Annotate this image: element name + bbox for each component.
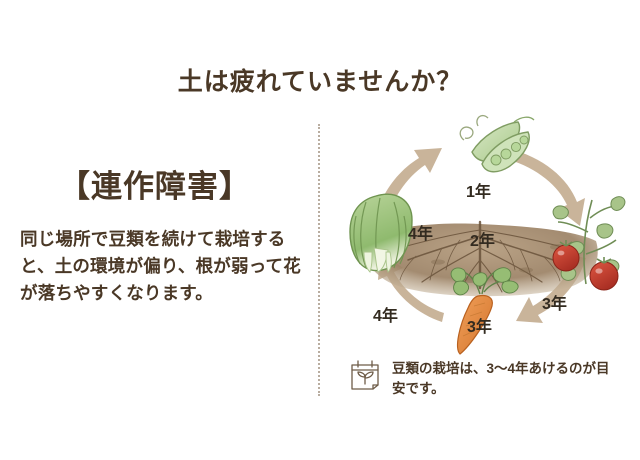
page-title: 土は疲れていませんか？ bbox=[0, 62, 640, 98]
left-panel: 【連作障害】 同じ場所で豆類を続けて栽培すると、土の環境が偏り、根が弱って花が落… bbox=[0, 170, 310, 307]
cycle-label-year-4-left: 4年 bbox=[408, 220, 433, 244]
section-body-text: 同じ場所で豆類を続けて栽培すると、土の環境が偏り、根が弱って花が落ちやすくなりま… bbox=[0, 226, 310, 307]
cycle-label-year-1: 1年 bbox=[466, 178, 491, 202]
rotation-note: 豆類の栽培は、3〜4年あけるのが目安です。 bbox=[348, 358, 618, 398]
calendar-sprout-icon bbox=[348, 358, 382, 392]
rotation-note-text: 豆類の栽培は、3〜4年あけるのが目安です。 bbox=[392, 358, 618, 398]
crop-rotation-cycle-diagram: 1年 2年 3年 3年 4年 4年 bbox=[330, 110, 630, 355]
section-headline: 【連作障害】 bbox=[0, 170, 310, 204]
cycle-label-year-2: 2年 bbox=[470, 227, 495, 251]
cycle-label-year-3-right: 3年 bbox=[542, 290, 567, 314]
carrot-illustration bbox=[451, 268, 518, 354]
infographic-canvas: 土は疲れていませんか？ 【連作障害】 同じ場所で豆類を続けて栽培すると、土の環境… bbox=[0, 0, 640, 460]
cycle-label-year-4-lower: 4年 bbox=[373, 302, 398, 326]
cycle-label-year-3-bottom: 3年 bbox=[467, 313, 492, 337]
vertical-dotted-divider bbox=[318, 124, 320, 396]
